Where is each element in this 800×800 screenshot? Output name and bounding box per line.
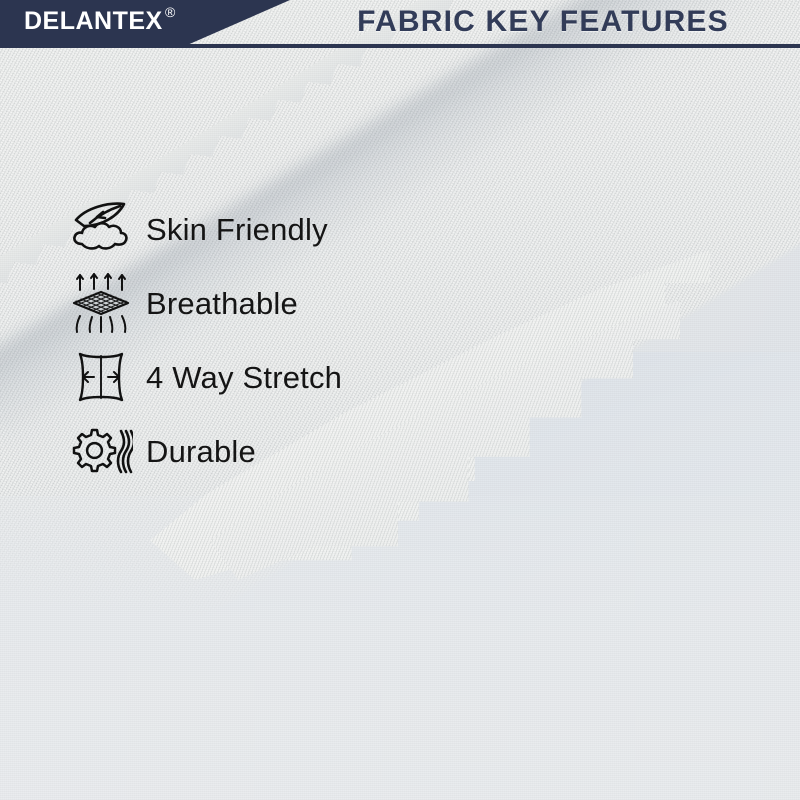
product-feature-image: DELANTEX ® FABRIC KEY FEATURES Skin Frie… xyxy=(0,0,800,800)
feature-list: Skin Friendly xyxy=(66,192,486,488)
leaf-cloud-icon xyxy=(66,196,136,262)
feature-item-4-way-stretch: 4 Way Stretch xyxy=(66,340,486,414)
four-way-stretch-icon xyxy=(66,344,136,410)
feature-item-durable: Durable xyxy=(66,414,486,488)
mesh-airflow-icon xyxy=(66,270,136,336)
header-banner: DELANTEX ® FABRIC KEY FEATURES xyxy=(0,0,800,52)
backdrop-lower-gradient-2 xyxy=(0,496,800,800)
feature-label: Durable xyxy=(136,436,256,467)
gear-waves-icon xyxy=(66,418,136,484)
feature-label: Skin Friendly xyxy=(136,214,328,245)
registered-trademark-icon: ® xyxy=(165,5,175,19)
page-title: FABRIC KEY FEATURES xyxy=(296,3,790,41)
feature-item-breathable: Breathable xyxy=(66,266,486,340)
feature-label: Breathable xyxy=(136,288,298,319)
feature-item-skin-friendly: Skin Friendly xyxy=(66,192,486,266)
header-divider xyxy=(0,44,800,48)
brand-logo: DELANTEX xyxy=(24,9,163,34)
feature-label: 4 Way Stretch xyxy=(136,362,342,393)
